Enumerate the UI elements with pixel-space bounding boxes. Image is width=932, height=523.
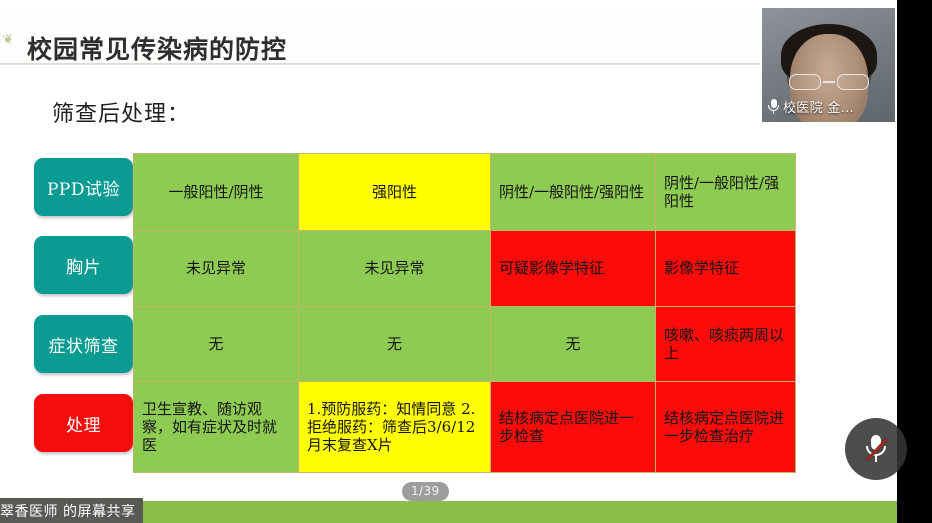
slide-title-band: ❦ 校园常见传染病的防控 (0, 12, 783, 65)
table-row: 未见异常 未见异常 可疑影像学特征 影像学特征 (134, 231, 796, 307)
table-cell: 可疑影像学特征 (491, 231, 656, 307)
table-cell: 阴性/一般阳性/强阳性 (656, 154, 796, 231)
glasses-icon (787, 74, 871, 90)
row-label-chest-xray: 胸片 (34, 236, 133, 294)
table-cell: 影像学特征 (656, 231, 796, 307)
participant-name: 校医院 金... (783, 97, 854, 116)
row-label-text: 胸片 (66, 253, 101, 278)
decorative-mark-icon: ❦ (2, 30, 29, 60)
screening-matrix-table: 一般阳性/阴性 强阳性 阴性/一般阳性/强阳性 阴性/一般阳性/强阳性 未见异常… (133, 153, 796, 473)
table-cell: 一般阳性/阴性 (134, 154, 299, 231)
participant-video-tile[interactable]: 校医院 金... (760, 6, 897, 124)
screen-share-status-text: 翠香医师 的屏幕共享 (0, 501, 135, 521)
slide-subtitle: 筛查后处理： (52, 96, 190, 128)
table-cell: 卫生宣教、随访观察，如有症状及时就医 (134, 382, 299, 473)
table-cell: 未见异常 (134, 231, 299, 307)
table-cell: 无 (491, 307, 656, 382)
page-indicator: 1/39 (402, 482, 449, 501)
row-label-text: 症状筛查 (49, 332, 119, 357)
zoom-meeting-window: ❦ 校园常见传染病的防控 筛查后处理： PPD试验 胸片 症状筛查 处理 一般阳… (0, 0, 932, 523)
table-cell: 强阳性 (299, 154, 491, 231)
table-cell: 咳嗽、咳痰两周以上 (656, 307, 796, 382)
microphone-muted-icon (866, 435, 886, 463)
table-cell: 结核病定点医院进一步检查 (491, 382, 656, 473)
table-cell: 阴性/一般阳性/强阳性 (491, 154, 656, 231)
row-label-text: 处理 (66, 411, 101, 436)
table-cell: 无 (299, 307, 491, 382)
microphone-icon (768, 99, 779, 114)
row-label-symptom-screening: 症状筛查 (34, 315, 133, 373)
mute-toggle-button[interactable] (845, 418, 907, 480)
row-label-ppd-test: PPD试验 (34, 158, 133, 216)
table-cell: 无 (134, 307, 299, 382)
table-row: 一般阳性/阴性 强阳性 阴性/一般阳性/强阳性 阴性/一般阳性/强阳性 (134, 154, 796, 231)
table-cell: 1.预防服药：知情同意 2.拒绝服药：筛查后3/6/12月末复查X片 (299, 382, 491, 473)
participant-name-badge: 校医院 金... (768, 97, 854, 116)
table-row: 卫生宣教、随访观察，如有症状及时就医 1.预防服药：知情同意 2.拒绝服药：筛查… (134, 382, 796, 473)
table-cell: 结核病定点医院进一步检查治疗 (656, 382, 796, 473)
screen-share-status-label: 翠香医师 的屏幕共享 (0, 498, 143, 523)
row-label-management: 处理 (34, 394, 133, 452)
table-cell: 未见异常 (299, 231, 491, 307)
row-label-text: PPD试验 (47, 175, 120, 200)
table-row: 无 无 无 咳嗽、咳痰两周以上 (134, 307, 796, 382)
page-title: 校园常见传染病的防控 (27, 30, 287, 66)
